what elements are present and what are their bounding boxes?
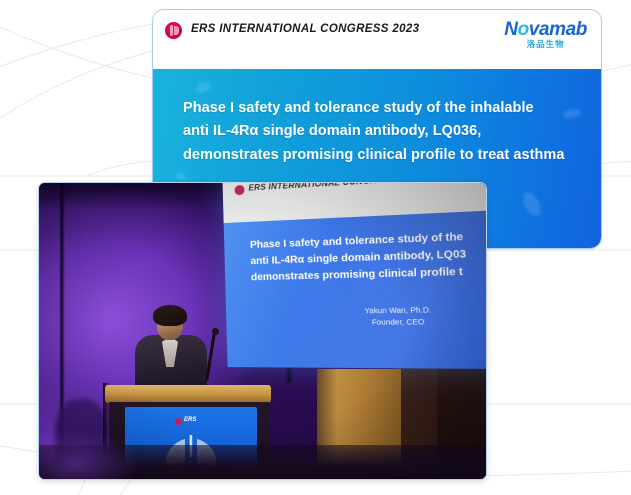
novamab-chinese-name: 洛品生物 <box>504 40 587 49</box>
bubble-decoration <box>519 189 544 219</box>
podium-ers-logo-icon <box>175 418 182 425</box>
conference-photo: ERS INTERNATIONAL CONGRESS 2023 Phase I … <box>38 182 487 480</box>
congress-label: ERS INTERNATIONAL CONGRESS 2023 <box>191 23 419 35</box>
presenter-role: Founder, CEO <box>332 315 466 328</box>
projection-screen: ERS INTERNATIONAL CONGRESS 2023 Phase I … <box>222 183 486 369</box>
podium-ers-label: ERS <box>184 417 196 423</box>
novamab-wordmark-pre: N <box>504 19 517 40</box>
bubble-decoration <box>194 80 212 94</box>
slide-title-line-1: Phase I safety and tolerance study of th… <box>183 97 583 120</box>
microphone-head <box>212 328 219 335</box>
novamab-wordmark: Novamab <box>504 20 587 39</box>
photo-scene: ERS INTERNATIONAL CONGRESS 2023 Phase I … <box>39 183 486 479</box>
novamab-wordmark-accent: o <box>518 19 529 40</box>
stage-light-glow <box>39 423 159 479</box>
novamab-logo: Novamab 洛品生物 <box>504 20 587 49</box>
slide-title: Phase I safety and tolerance study of th… <box>183 97 583 167</box>
ers-logo-icon <box>165 22 182 39</box>
projected-presenter-credit: Yakun Wan, Ph.D. Founder, CEO <box>332 303 466 328</box>
projected-slide-title: Phase I safety and tolerance study of th… <box>250 228 486 287</box>
novamab-wordmark-post: vamab <box>529 19 587 40</box>
slide-title-line-3: demonstrates promising clinical profile … <box>183 144 583 167</box>
speaker-glasses <box>159 321 182 327</box>
slide-header: ERS INTERNATIONAL CONGRESS 2023 Novamab … <box>153 10 601 69</box>
bubble-decoration <box>174 171 187 181</box>
slide-title-line-2: anti IL-4Rα single domain antibody, LQ03… <box>183 120 583 143</box>
podium-top <box>105 385 271 403</box>
